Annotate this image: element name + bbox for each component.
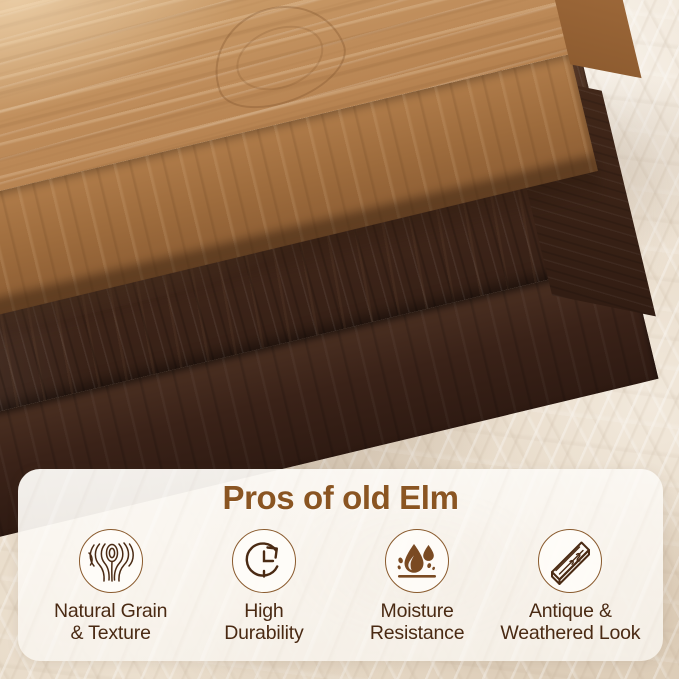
water-droplet-icon	[385, 529, 449, 593]
wood-plank-icon	[538, 529, 602, 593]
pros-info-card: Pros of old Elm	[18, 469, 663, 661]
feature-antique-weathered: Antique & Weathered Look	[494, 529, 647, 644]
wood-grain-icon	[79, 529, 143, 593]
feature-label-moisture-resistance: Moisture Resistance	[370, 600, 464, 644]
feature-high-durability: High Durability	[187, 529, 340, 644]
feature-moisture-resistance: Moisture Resistance	[341, 529, 494, 644]
clock-arrow-icon	[232, 529, 296, 593]
card-title: Pros of old Elm	[18, 469, 663, 517]
feature-natural-grain: Natural Grain & Texture	[34, 529, 187, 644]
feature-label-high-durability: High Durability	[224, 600, 303, 644]
feature-label-natural-grain: Natural Grain & Texture	[54, 600, 167, 644]
product-image-stage: Pros of old Elm	[0, 0, 679, 679]
feature-list: Natural Grain & Texture High	[18, 517, 663, 644]
feature-label-antique-weathered: Antique & Weathered Look	[500, 600, 640, 644]
